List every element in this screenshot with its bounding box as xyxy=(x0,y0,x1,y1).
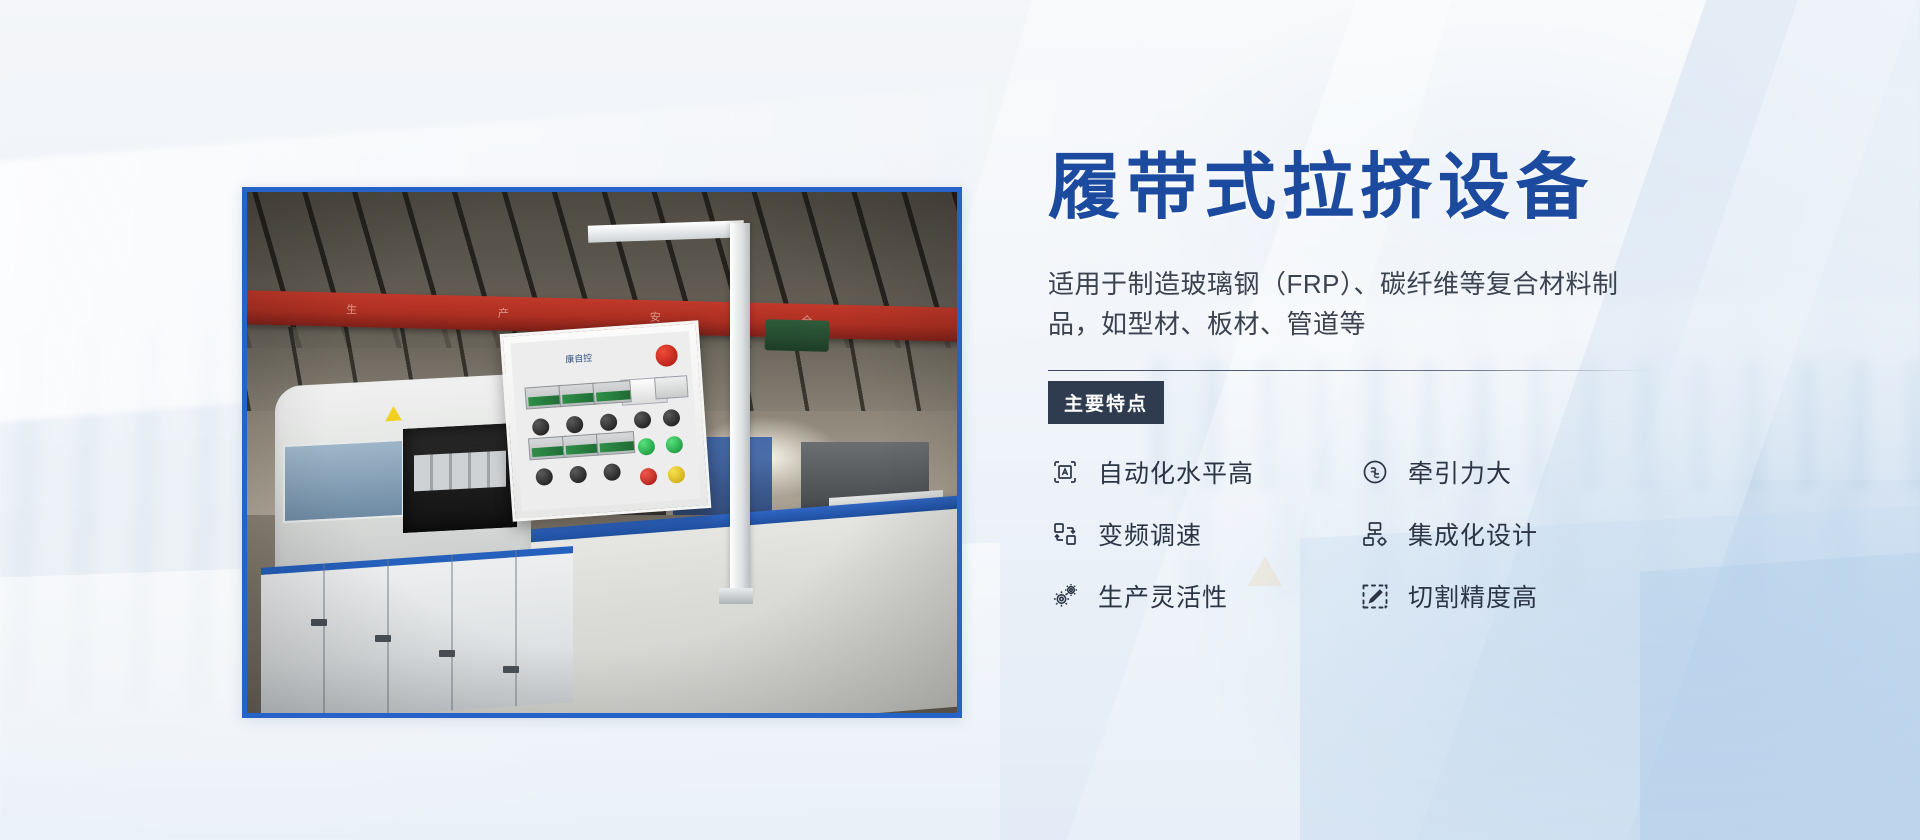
feature-item-automation[interactable]: 自动化水平高 xyxy=(1048,454,1358,490)
frequency-speed-regulation-icon xyxy=(1048,517,1082,551)
photo-vignette xyxy=(247,192,957,713)
page-title: 履带式拉挤设备 xyxy=(1048,150,1808,228)
integrated-design-icon xyxy=(1358,517,1392,551)
main-features-badge: 主要特点 xyxy=(1048,381,1164,424)
feature-label: 集成化设计 xyxy=(1408,516,1538,552)
feature-item-flexibility[interactable]: 生产灵活性 xyxy=(1048,578,1358,614)
feature-label: 变频调速 xyxy=(1098,516,1202,552)
feature-label: 切割精度高 xyxy=(1408,578,1538,614)
product-photo: 生 产 安 全 xyxy=(247,192,957,713)
section-divider-row: 主要特点 xyxy=(1048,370,1808,414)
feature-item-integrated[interactable]: 集成化设计 xyxy=(1358,516,1668,552)
feature-label: 牵引力大 xyxy=(1408,454,1512,490)
gears-flexibility-icon xyxy=(1048,579,1082,613)
feature-list: 自动化水平高 牵引力大 xyxy=(1048,454,1808,614)
cutting-precision-pencil-icon xyxy=(1358,579,1392,613)
feature-item-cutting[interactable]: 切割精度高 xyxy=(1358,578,1668,614)
traction-force-icon xyxy=(1358,455,1392,489)
feature-label: 自动化水平高 xyxy=(1098,454,1254,490)
feature-label: 生产灵活性 xyxy=(1098,578,1228,614)
feature-item-frequency[interactable]: 变频调速 xyxy=(1048,516,1358,552)
product-photo-frame[interactable]: 生 产 安 全 xyxy=(242,187,962,718)
feature-item-traction[interactable]: 牵引力大 xyxy=(1358,454,1668,490)
product-banner: 生 产 安 全 xyxy=(0,0,1920,840)
automation-letter-a-icon xyxy=(1048,455,1082,489)
divider-line xyxy=(1048,370,1648,371)
banner-content: 履带式拉挤设备 适用于制造玻璃钢（FRP）、碳纤维等复合材料制品，如型材、板材、… xyxy=(1048,150,1808,614)
product-description: 适用于制造玻璃钢（FRP）、碳纤维等复合材料制品，如型材、板材、管道等 xyxy=(1048,264,1648,345)
